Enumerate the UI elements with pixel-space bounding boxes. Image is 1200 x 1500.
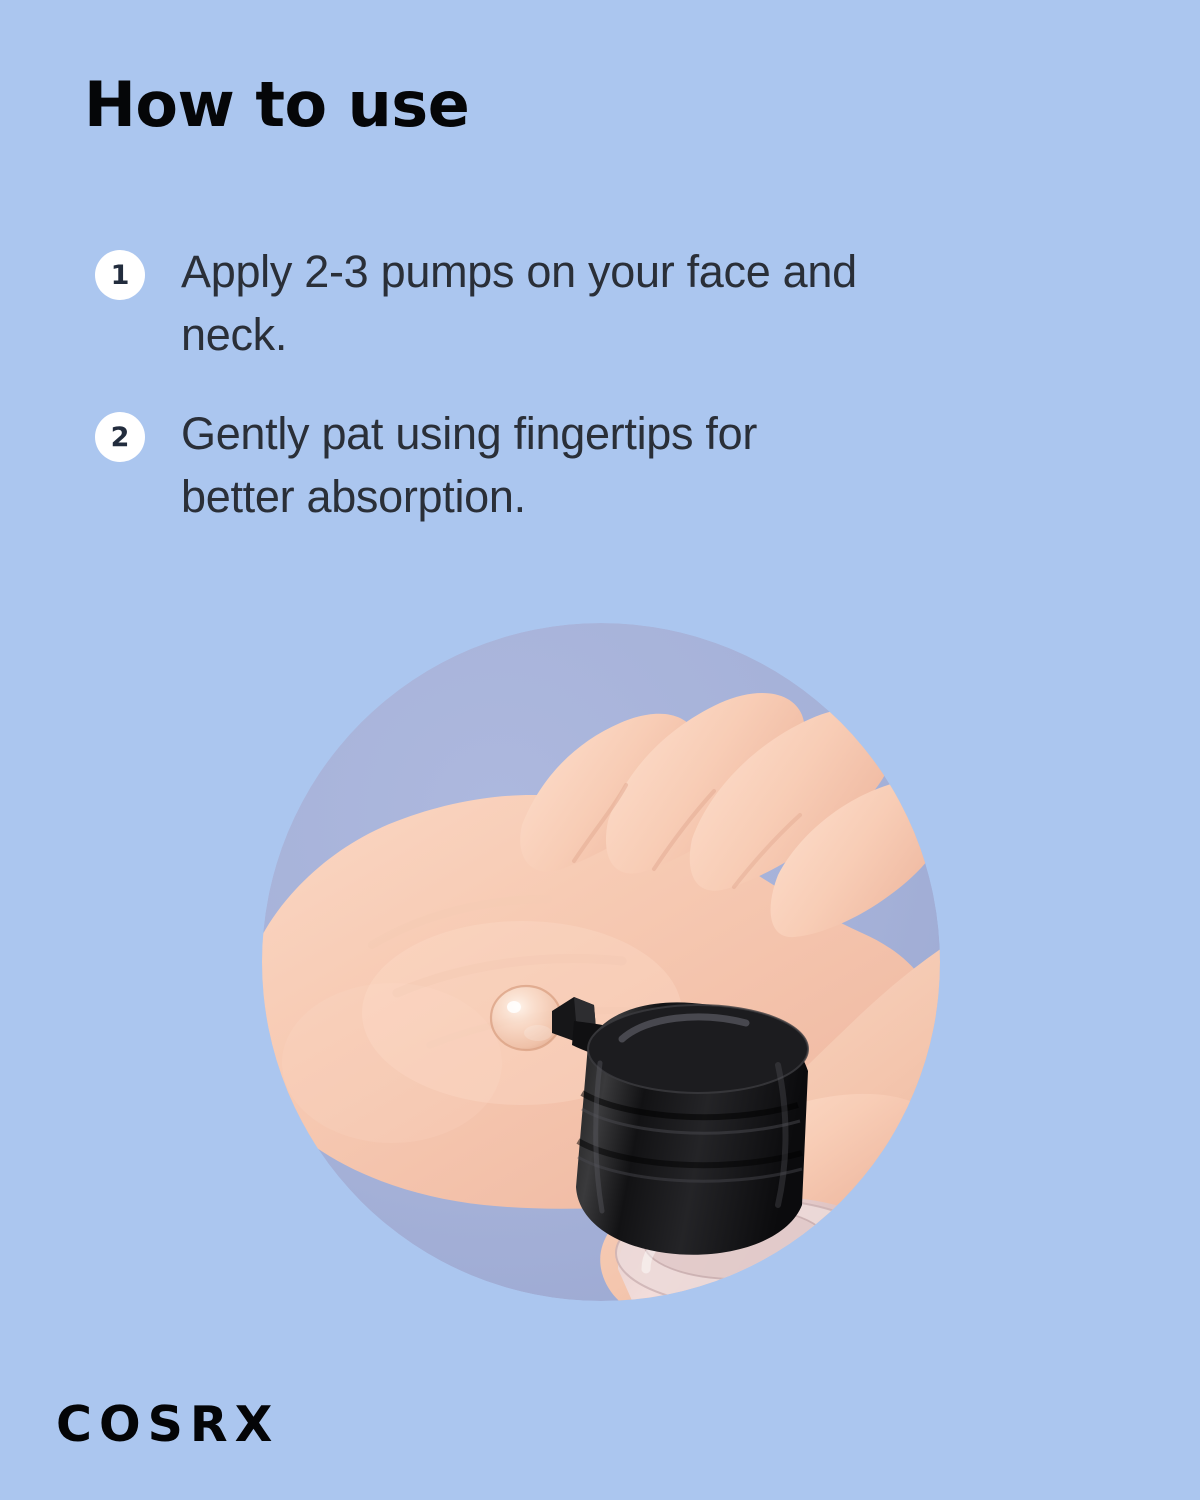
hand-with-serum-illustration [222,593,982,1353]
steps-list: 1 Apply 2-3 pumps on your face and neck.… [95,240,915,564]
photo-circle-mask [262,623,940,1301]
step-number-badge: 2 [95,412,145,462]
serum-droplet [491,986,561,1050]
product-photo [262,623,940,1301]
brand-logo: COSRX [56,1396,279,1453]
step-text: Gently pat using fingertips for better a… [181,402,881,528]
product-instruction-card: How to use 1 Apply 2-3 pumps on your fac… [0,0,1200,1500]
black-pump-cap [552,997,808,1255]
photo-backdrop [240,623,1022,1430]
list-item: 1 Apply 2-3 pumps on your face and neck. [95,240,915,366]
step-number-badge: 1 [95,250,145,300]
list-item: 2 Gently pat using fingertips for better… [95,402,915,528]
page-title: How to use [84,72,469,137]
step-text: Apply 2-3 pumps on your face and neck. [181,240,881,366]
